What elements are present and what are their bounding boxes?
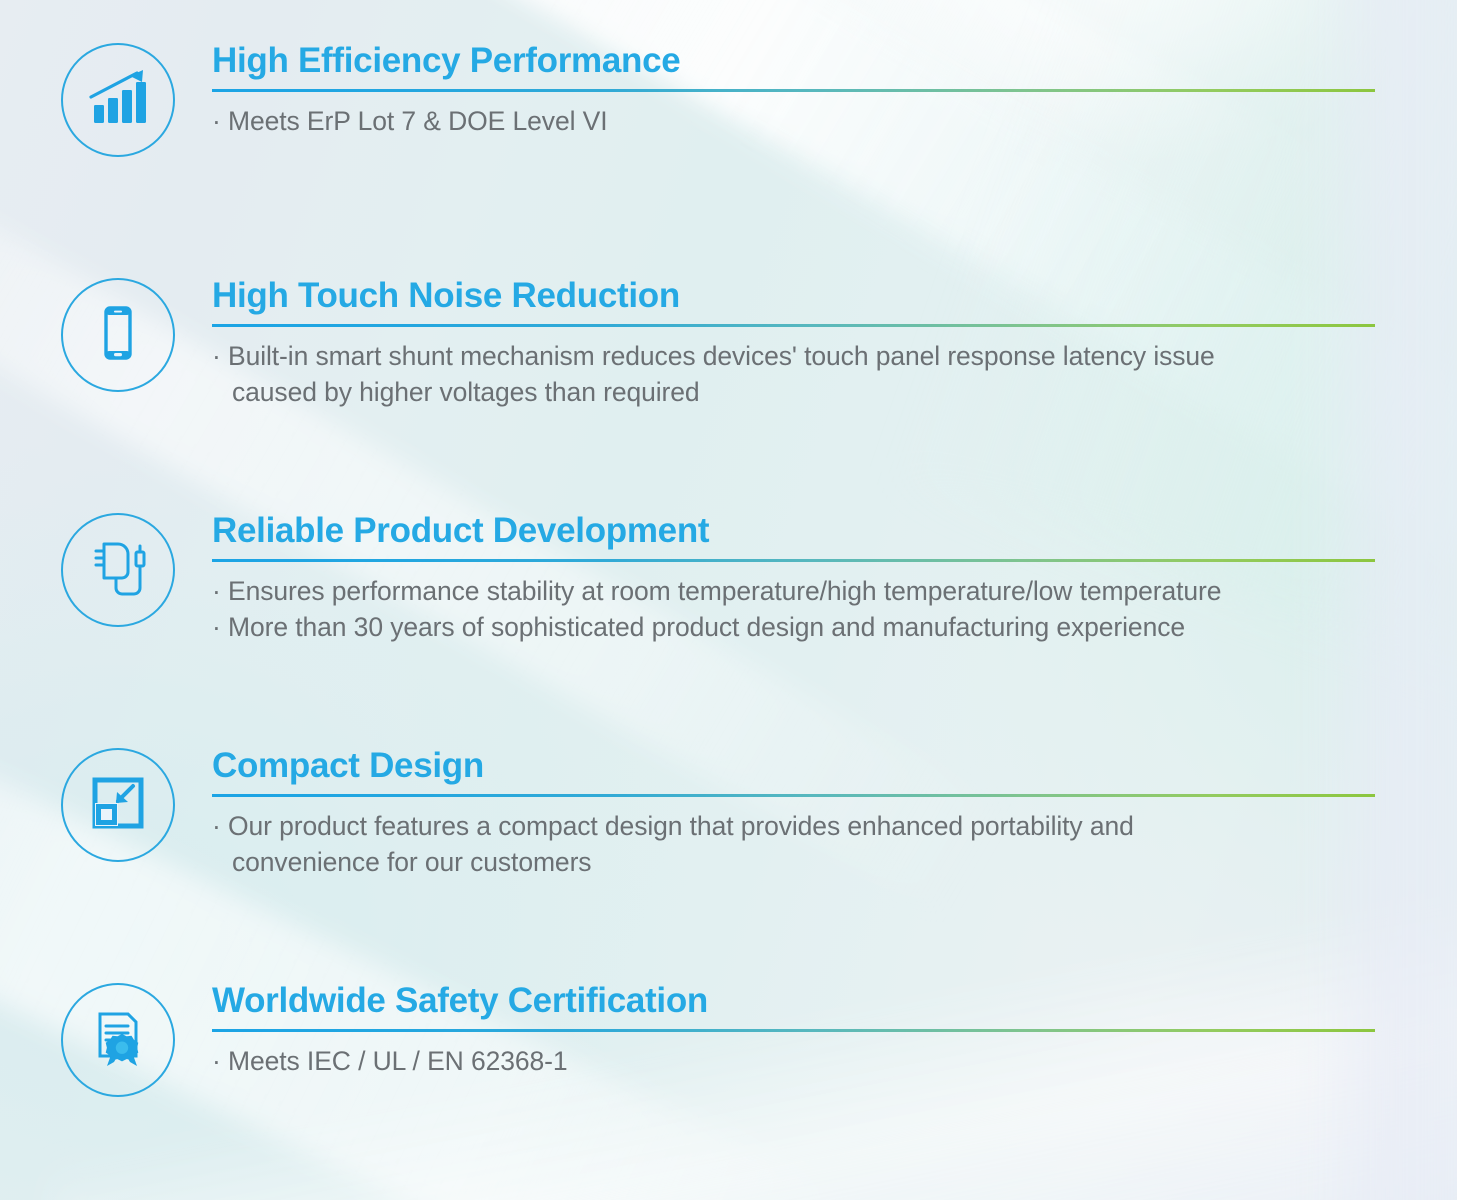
feature-item-high-touch-noise-reduction: High Touch Noise Reduction · Built-in sm… (0, 273, 1457, 410)
bullet-marker: · (212, 576, 221, 606)
bullet-text: Our product features a compact design th… (228, 811, 1134, 841)
feature-divider (212, 559, 1375, 562)
certificate-award-icon (86, 1006, 150, 1075)
feature-icon-wrapper (56, 273, 180, 397)
icon-circle-outline (61, 748, 175, 862)
bullet-marker: · (212, 1046, 221, 1076)
feature-divider (212, 794, 1375, 797)
feature-divider (212, 324, 1375, 327)
bullet-text: More than 30 years of sophisticated prod… (228, 612, 1185, 642)
bullet-line: · Ensures performance stability at room … (212, 573, 1457, 609)
feature-list: High Efficiency Performance · Meets ErP … (0, 0, 1457, 1200)
feature-icon-wrapper (56, 743, 180, 867)
feature-text-column: High Touch Noise Reduction · Built-in sm… (212, 273, 1457, 410)
bullet-line: · Meets IEC / UL / EN 62368-1 (212, 1043, 1457, 1079)
bullet-marker: · (212, 811, 221, 841)
bullet-line: · More than 30 years of sophisticated pr… (212, 609, 1457, 645)
bullet-line-continuation: convenience for our customers (212, 844, 1457, 880)
icon-circle-outline (61, 983, 175, 1097)
bullet-text: Meets IEC / UL / EN 62368-1 (228, 1046, 568, 1076)
feature-title: Compact Design (212, 747, 1457, 785)
feature-bullets: · Ensures performance stability at room … (212, 573, 1457, 645)
smartphone-icon (87, 302, 149, 369)
feature-bullets: · Meets ErP Lot 7 & DOE Level VI (212, 103, 1457, 139)
bullet-text: Meets ErP Lot 7 & DOE Level VI (228, 106, 607, 136)
bullet-line: · Meets ErP Lot 7 & DOE Level VI (212, 103, 1457, 139)
feature-icon-wrapper (56, 508, 180, 632)
feature-item-worldwide-safety-certification: Worldwide Safety Certification · Meets I… (0, 978, 1457, 1102)
feature-title: Worldwide Safety Certification (212, 982, 1457, 1020)
feature-title: Reliable Product Development (212, 512, 1457, 550)
bar-chart-growth-icon (85, 65, 151, 136)
feature-text-column: Worldwide Safety Certification · Meets I… (212, 978, 1457, 1079)
bullet-marker: · (212, 612, 221, 642)
feature-icon-wrapper (56, 38, 180, 162)
feature-divider (212, 1029, 1375, 1032)
feature-item-compact-design: Compact Design · Our product features a … (0, 743, 1457, 880)
feature-item-high-efficiency-performance: High Efficiency Performance · Meets ErP … (0, 38, 1457, 162)
feature-title: High Efficiency Performance (212, 42, 1457, 80)
bullet-line: · Our product features a compact design … (212, 808, 1457, 844)
feature-bullets: · Our product features a compact design … (212, 808, 1457, 880)
bullet-marker: · (212, 341, 221, 371)
feature-text-column: High Efficiency Performance · Meets ErP … (212, 38, 1457, 139)
feature-text-column: Reliable Product Development · Ensures p… (212, 508, 1457, 645)
bullet-marker: · (212, 106, 221, 136)
icon-circle-outline (61, 278, 175, 392)
icon-circle-outline (61, 513, 175, 627)
feature-bullets: · Built-in smart shunt mechanism reduces… (212, 338, 1457, 410)
bullet-text: Ensures performance stability at room te… (228, 576, 1221, 606)
bullet-line-continuation: caused by higher voltages than required (212, 374, 1457, 410)
feature-bullets: · Meets IEC / UL / EN 62368-1 (212, 1043, 1457, 1079)
power-adapter-icon (82, 534, 154, 607)
bullet-line: · Built-in smart shunt mechanism reduces… (212, 338, 1457, 374)
icon-circle-outline (61, 43, 175, 157)
feature-text-column: Compact Design · Our product features a … (212, 743, 1457, 880)
feature-divider (212, 89, 1375, 92)
feature-icon-wrapper (56, 978, 180, 1102)
compact-resize-icon (87, 772, 149, 839)
feature-item-reliable-product-development: Reliable Product Development · Ensures p… (0, 508, 1457, 645)
feature-title: High Touch Noise Reduction (212, 277, 1457, 315)
bullet-text: Built-in smart shunt mechanism reduces d… (228, 341, 1215, 371)
